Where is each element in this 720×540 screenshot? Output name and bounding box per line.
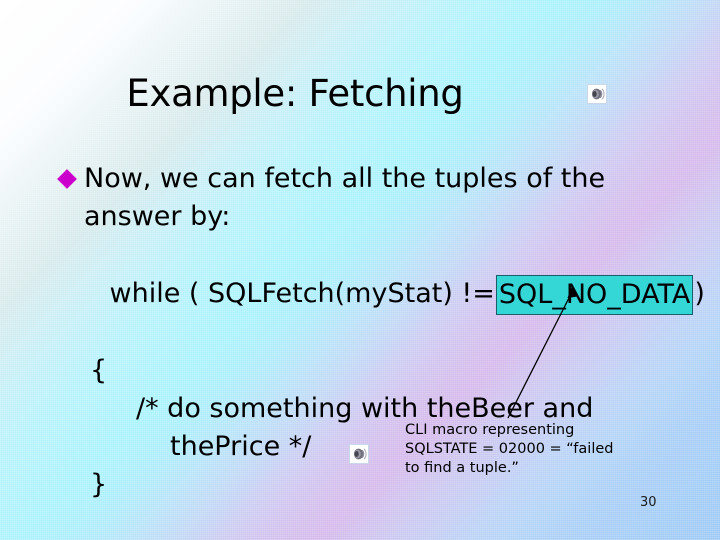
code-line-while: while ( SQLFetch(myStat) !=SQL_NO_DATA) [58, 236, 708, 352]
slide-title: Example: Fetching [60, 72, 530, 116]
annotation-line-1: CLI macro representing [405, 421, 675, 440]
sound-icon[interactable] [587, 84, 607, 104]
code-while-prefix: while ( SQLFetch(myStat) != [110, 278, 495, 309]
highlight-sql-no-data[interactable]: SQL_NO_DATA [496, 275, 693, 315]
annotation-line-2: SQLSTATE = 02000 = “failed [405, 440, 675, 459]
code-line-open-brace: { [58, 352, 708, 390]
annotation-text: CLI macro representing SQLSTATE = 02000 … [405, 421, 675, 478]
annotation-line-3: to find a tuple.” [405, 459, 675, 478]
sound-icon-glyph [588, 85, 606, 103]
slide-canvas: Example: Fetching Now, we can fetch all … [0, 0, 720, 540]
sound-icon-glyph [350, 445, 368, 463]
bullet-item: Now, we can fetch all the tuples of the … [58, 160, 684, 236]
page-number: 30 [640, 495, 657, 510]
code-while-suffix: ) [694, 278, 705, 309]
sound-icon[interactable] [349, 444, 369, 464]
bullet-text: Now, we can fetch all the tuples of the … [84, 163, 605, 232]
diamond-bullet-icon [57, 169, 77, 189]
